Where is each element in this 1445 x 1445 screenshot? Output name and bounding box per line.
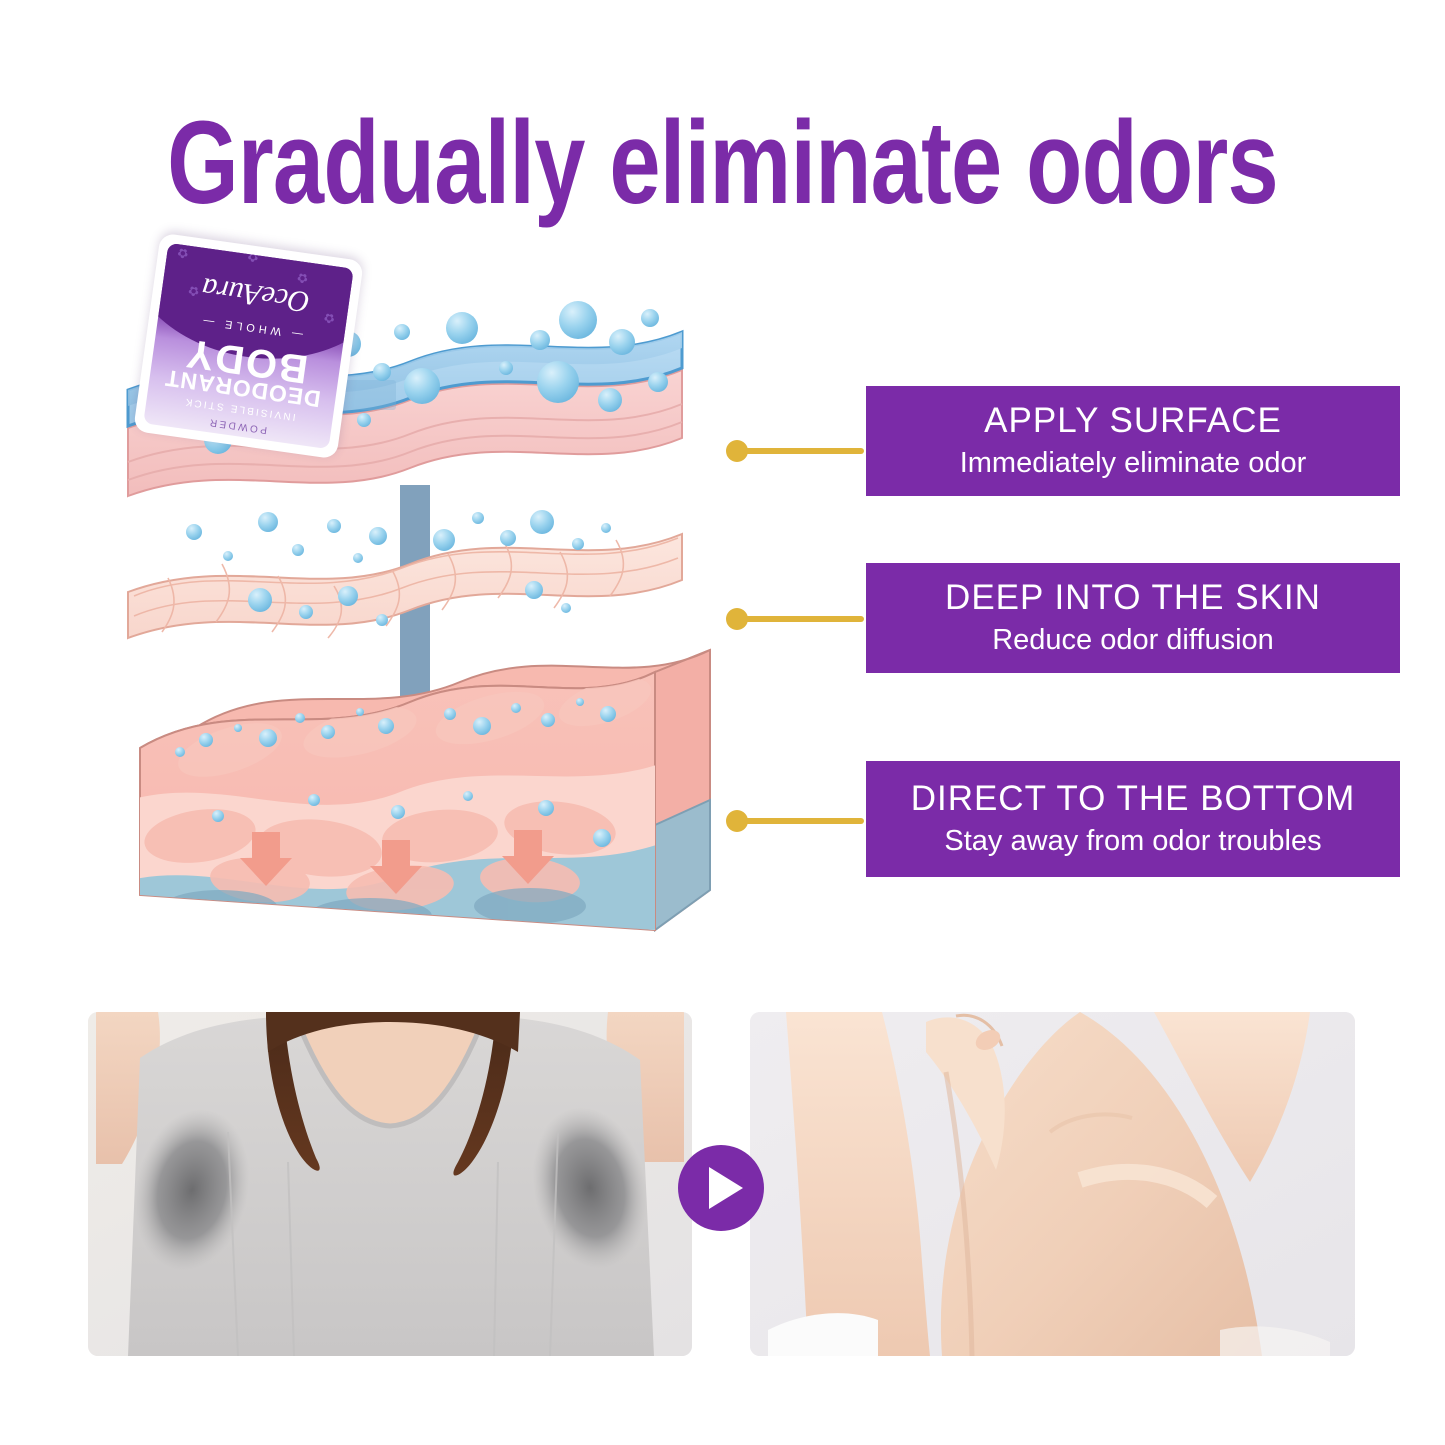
connector-line-2 xyxy=(742,616,864,622)
callout-subtitle: Immediately eliminate odor xyxy=(960,446,1307,481)
before-photo xyxy=(88,1012,692,1356)
connector-line-3 xyxy=(742,818,864,824)
callout-subtitle: Stay away from odor troubles xyxy=(944,824,1321,859)
callout-apply-surface[interactable]: APPLY SURFACE Immediately eliminate odor xyxy=(866,386,1400,496)
play-button[interactable] xyxy=(678,1145,764,1231)
package-label: ✿ ✿ ✿ ✿ ✿ POWDER INVISIBLE STICK DEODORA… xyxy=(143,243,354,449)
page-title: Gradually eliminate odors xyxy=(159,104,1286,222)
floret-icon: ✿ xyxy=(246,248,259,265)
infographic-canvas: Gradually eliminate odors xyxy=(0,0,1445,1445)
play-icon xyxy=(709,1167,743,1209)
callout-deep-into-skin[interactable]: DEEP INTO THE SKIN Reduce odor diffusion xyxy=(866,563,1400,673)
product-package: ✿ ✿ ✿ ✿ ✿ POWDER INVISIBLE STICK DEODORA… xyxy=(133,233,364,460)
callout-title: DEEP INTO THE SKIN xyxy=(945,578,1321,618)
after-photo xyxy=(750,1012,1355,1356)
callout-title: DIRECT TO THE BOTTOM xyxy=(911,779,1356,819)
connector-line-1 xyxy=(742,448,864,454)
callout-title: APPLY SURFACE xyxy=(984,401,1282,441)
callout-subtitle: Reduce odor diffusion xyxy=(992,623,1274,658)
layer-dermis-block xyxy=(130,650,710,952)
floret-icon: ✿ xyxy=(176,244,189,261)
package-body: ✿ ✿ ✿ ✿ ✿ POWDER INVISIBLE STICK DEODORA… xyxy=(133,233,364,460)
callout-direct-to-bottom[interactable]: DIRECT TO THE BOTTOM Stay away from odor… xyxy=(866,761,1400,877)
